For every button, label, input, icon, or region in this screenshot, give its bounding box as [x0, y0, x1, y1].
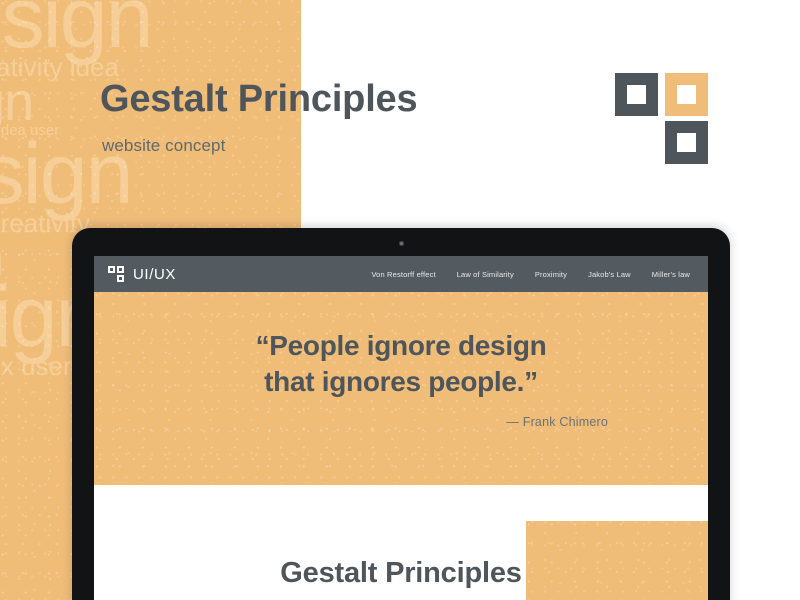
site-navbar: UI/UX Von Restorff effect Law of Similar… — [94, 256, 708, 292]
site-section: Gestalt Principles — [94, 485, 708, 600]
site-nav-links: Von Restorff effect Law of Similarity Pr… — [371, 270, 690, 279]
cover-artboard: user creativity user design creativity i… — [0, 0, 800, 600]
page-subtitle: website concept — [102, 136, 580, 156]
square-dark-top-left-icon — [615, 73, 658, 116]
decorative-squares-logo — [615, 73, 720, 163]
square-orange-top-right-icon — [665, 73, 708, 116]
laptop-mockup: UI/UX Von Restorff effect Law of Similar… — [72, 228, 730, 600]
site-logo[interactable]: UI/UX — [108, 266, 176, 283]
brand-name: UI/UX — [133, 266, 176, 283]
section-title: Gestalt Principles — [94, 557, 708, 590]
nav-link-millers-law[interactable]: Miller's law — [652, 270, 690, 279]
hero-quote: “People ignore design that ignores peopl… — [158, 328, 644, 399]
cover-title-block: Gestalt Principles website concept — [100, 78, 580, 156]
hero-quote-author: — Frank Chimero — [158, 415, 608, 429]
nav-link-law-of-similarity[interactable]: Law of Similarity — [457, 270, 514, 279]
square-dark-bottom-right-icon — [665, 121, 708, 164]
site-hero-band: “People ignore design that ignores peopl… — [94, 292, 708, 485]
nav-link-proximity[interactable]: Proximity — [535, 270, 567, 279]
nav-link-jakobs-law[interactable]: Jakob's Law — [588, 270, 631, 279]
laptop-camera-icon — [399, 241, 404, 246]
nav-link-von-restorff-effect[interactable]: Von Restorff effect — [371, 270, 435, 279]
three-squares-icon — [108, 266, 125, 283]
hero-quote-line-1: “People ignore design — [256, 330, 547, 361]
hero-content: “People ignore design that ignores peopl… — [94, 292, 708, 429]
hero-quote-line-2: that ignores people.” — [264, 366, 538, 397]
page-title: Gestalt Principles — [100, 78, 580, 122]
laptop-screen: UI/UX Von Restorff effect Law of Similar… — [94, 256, 708, 600]
